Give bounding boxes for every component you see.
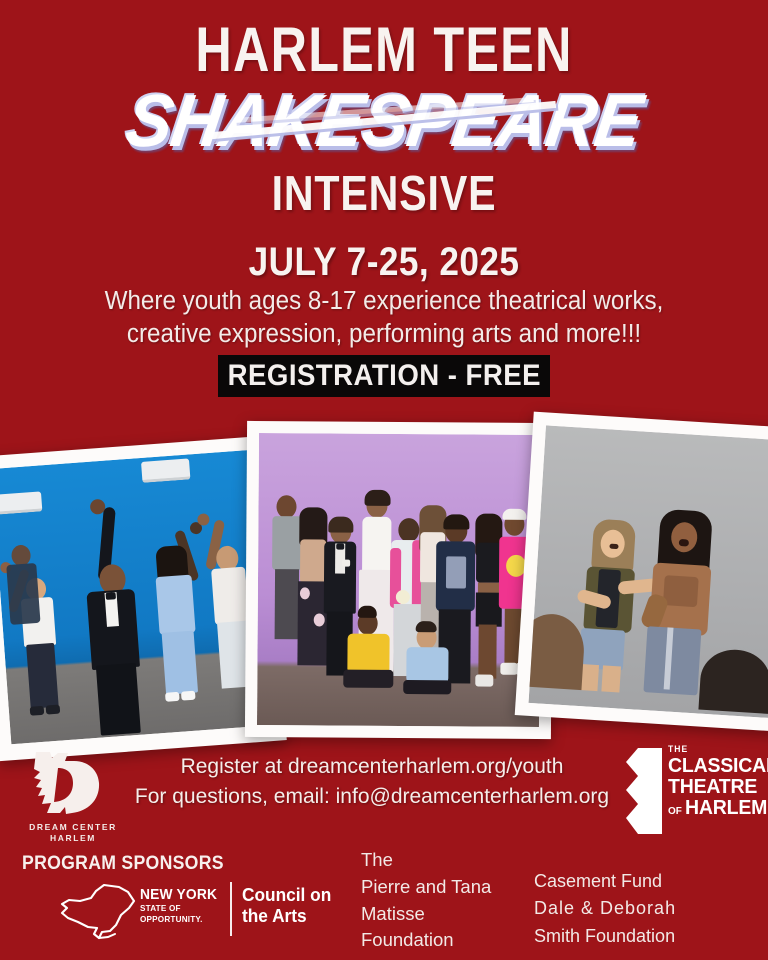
- matisse-line-3: Matisse: [361, 901, 491, 928]
- cth-wordmark: THE CLASSICAL THEATRE OF HARLEM: [668, 744, 760, 818]
- photo-3-scene: [529, 425, 768, 718]
- new-york-state-outline-icon: [58, 882, 138, 940]
- photo-2-scene: [257, 433, 541, 727]
- photo-collage: [0, 408, 768, 728]
- matisse-line-4: Foundation: [361, 927, 491, 954]
- council-line-1: Council on: [242, 885, 331, 906]
- council-on-the-arts-wordmark: Council on the Arts: [242, 885, 331, 926]
- council-line-2: the Arts: [242, 906, 331, 927]
- zigzag-banner-icon: [624, 746, 664, 836]
- photo-frame-3: [515, 412, 768, 733]
- description-line-2: creative expression, performing arts and…: [63, 318, 705, 351]
- matisse-line-2: Pierre and Tana: [361, 874, 491, 901]
- nysca-state-of: STATE OF: [140, 903, 220, 914]
- headline-block: HARLEM TEEN SHAKESPEARE INTENSIVE: [0, 20, 768, 222]
- photo-frame-1: [0, 436, 287, 761]
- registration-banner-label: REGISTRATION - FREE: [227, 359, 540, 393]
- cth-classical: CLASSICAL: [668, 755, 755, 776]
- nysca-divider: [230, 882, 232, 936]
- headline-shakespeare-wrap: SHAKESPEARE: [0, 78, 768, 162]
- nysca-logo: NEW YORK STATE OF OPPORTUNITY. Council o…: [58, 880, 320, 942]
- dream-center-harlem-logo: DREAM CENTER HARLEM: [14, 748, 132, 844]
- photo-1-image: [0, 450, 273, 744]
- photo-3-image: [529, 425, 768, 718]
- dale-deborah-line: Dale & Deborah: [534, 895, 676, 922]
- description-line-1: Where youth ages 8-17 experience theatri…: [63, 285, 705, 318]
- cth-of: OF: [668, 806, 682, 817]
- cth-theatre: THEATRE: [668, 776, 755, 797]
- contact-email-line[interactable]: For questions, email: info@dreamcenterha…: [118, 782, 626, 812]
- matisse-foundation-sponsor: The Pierre and Tana Matisse Foundation: [361, 847, 491, 954]
- headline-line-harlem-teen: HARLEM TEEN: [77, 20, 691, 82]
- dch-line-2: HARLEM: [14, 833, 132, 844]
- nysca-opportunity: OPPORTUNITY.: [140, 914, 220, 925]
- register-url-line[interactable]: Register at dreamcenterharlem.org/youth: [118, 752, 626, 782]
- photo-frame-2: [245, 421, 553, 739]
- casement-fund-line: Casement Fund: [534, 868, 676, 895]
- other-sponsors: Casement Fund Dale & Deborah Smith Found…: [534, 868, 676, 950]
- registration-banner: REGISTRATION - FREE: [218, 355, 550, 397]
- nysca-wordmark: NEW YORK STATE OF OPPORTUNITY.: [140, 886, 224, 926]
- event-dates: JULY 7-25, 2025: [46, 240, 722, 285]
- photo-2-image: [257, 433, 541, 727]
- classical-theatre-of-harlem-logo: THE CLASSICAL THEATRE OF HARLEM: [624, 742, 760, 842]
- poster-canvas: HARLEM TEEN SHAKESPEARE INTENSIVE JULY 7…: [0, 0, 768, 960]
- contact-block: Register at dreamcenterharlem.org/youth …: [118, 752, 626, 812]
- program-sponsors-title: PROGRAM SPONSORS: [22, 853, 224, 875]
- cth-harlem: HARLEM: [685, 797, 767, 818]
- photo-1-scene: [0, 450, 273, 744]
- event-description: Where youth ages 8-17 experience theatri…: [63, 285, 705, 350]
- dch-line-1: DREAM CENTER: [14, 822, 132, 833]
- dream-center-d-icon: [22, 748, 114, 820]
- headline-line-intensive: INTENSIVE: [61, 166, 706, 222]
- matisse-line-1: The: [361, 847, 491, 874]
- dream-center-harlem-wordmark: DREAM CENTER HARLEM: [14, 822, 132, 845]
- smith-foundation-line: Smith Foundation: [534, 923, 676, 950]
- nysca-new-york: NEW YORK: [140, 886, 217, 903]
